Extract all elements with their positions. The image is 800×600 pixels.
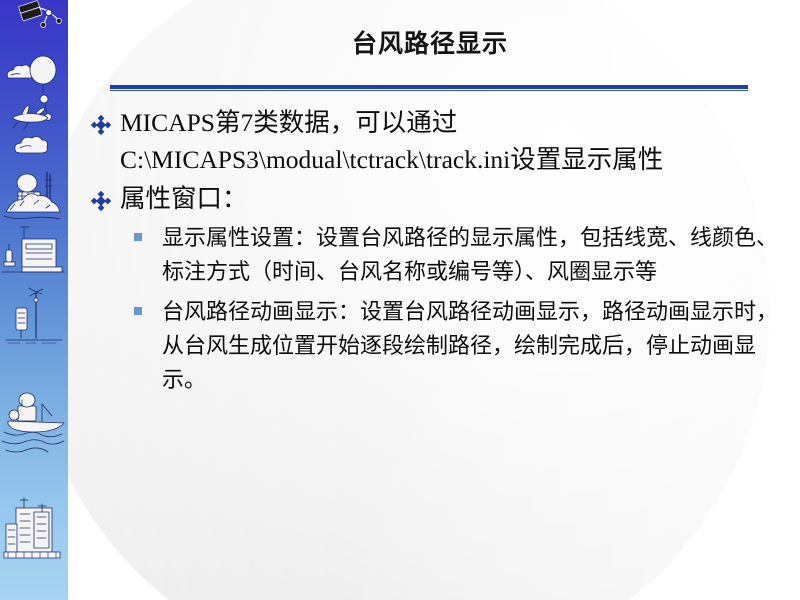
weather-mast-icon	[6, 288, 62, 343]
sub-bullet-item: 台风路径动画显示：设置台风路径动画显示，路径动画显示时，从台风生成位置开始逐段绘…	[90, 295, 790, 397]
slide-body: MICAPS第7类数据，可以通过C:\MICAPS3\modual\tctrac…	[90, 104, 790, 403]
satellite-icon	[18, 0, 62, 34]
bullet-text: MICAPS第7类数据，可以通过C:\MICAPS3\modual\tctrac…	[120, 108, 663, 174]
observatory-building-icon	[2, 227, 64, 272]
bullet-item: 属性窗口：	[90, 180, 790, 217]
sub-bullet-item: 显示属性设置：设置台风路径的显示属性，包括线宽、线颜色、标注方式（时间、台风名称…	[90, 221, 790, 289]
aircraft-icon	[12, 105, 48, 129]
diamond-bullet-icon	[91, 108, 111, 128]
title-divider-thick-line	[110, 85, 748, 89]
sidebar-illustration-strip	[0, 0, 68, 600]
slide-canvas: 台风路径显示 MICAPS第7类数据，可以通过C:\MICAPS3\modual…	[0, 0, 800, 600]
diamond-bullet-icon	[91, 184, 111, 204]
sub-bullet-list: 显示属性设置：设置台风路径的显示属性，包括线宽、线颜色、标注方式（时间、台风名称…	[90, 221, 790, 397]
title-divider-thin-line	[110, 90, 748, 91]
square-bullet-icon	[134, 307, 142, 315]
bullet-text: 属性窗口：	[120, 184, 248, 213]
title-divider	[110, 85, 748, 92]
square-bullet-icon	[134, 233, 142, 241]
sub-bullet-text: 台风路径动画显示：设置台风路径动画显示，路径动画显示时，从台风生成位置开始逐段绘…	[162, 299, 778, 392]
sub-bullet-text: 显示属性设置：设置台风路径的显示属性，包括线宽、线颜色、标注方式（时间、台风名称…	[162, 225, 778, 284]
city-building-icon	[4, 498, 60, 558]
page-title: 台风路径显示	[110, 24, 750, 60]
cloud-icon	[15, 136, 48, 153]
research-ship-icon	[2, 393, 64, 452]
radar-station-icon	[4, 172, 60, 219]
bullet-item: MICAPS第7类数据，可以通过C:\MICAPS3\modual\tctrac…	[90, 104, 790, 178]
